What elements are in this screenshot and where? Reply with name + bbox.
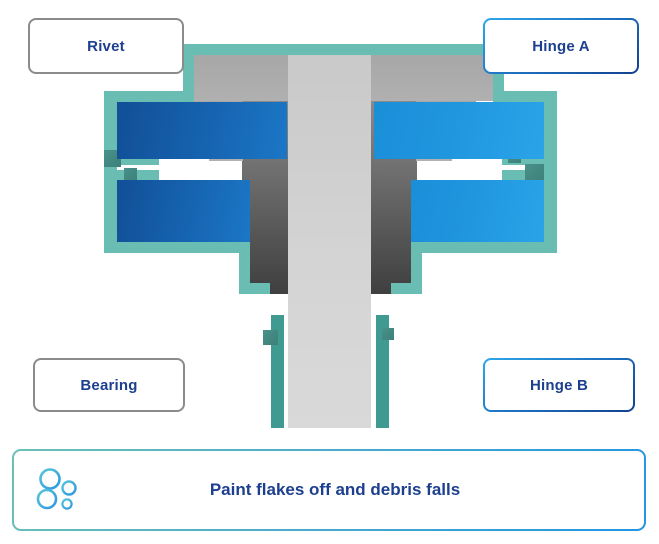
bearing-collar-rivet-right [382, 328, 394, 340]
frame-left-top-arm [104, 91, 194, 102]
callout-bearing[interactable]: Bearing [33, 358, 185, 412]
frame-left-bottom-arm [104, 242, 250, 253]
frame-left-step-foot [239, 283, 270, 294]
callout-rivet-label: Rivet [87, 38, 125, 55]
callout-rivet[interactable]: Rivet [28, 18, 184, 74]
callout-hinge-b[interactable]: Hinge B [483, 358, 635, 412]
frame-left-riser [183, 55, 194, 91]
diagram-canvas: Rivet Hinge A Bearing Hinge B [0, 0, 659, 544]
callout-hinge-a[interactable]: Hinge A [483, 18, 639, 74]
bearing-block-right-lower [411, 180, 544, 242]
callout-hinge-a-label: Hinge A [532, 38, 590, 55]
status-banner[interactable]: Paint flakes off and debris falls [12, 449, 646, 531]
bearing-block-right-upper [374, 102, 544, 159]
central-shaft [288, 55, 371, 428]
clearance-gap-left [159, 159, 209, 180]
frame-right-bottom-arm [411, 242, 557, 253]
bearing-collar-rivet-left [263, 330, 278, 345]
clearance-gap-right [452, 159, 502, 180]
bearing-block-left-upper [117, 102, 287, 159]
frame-right-step-foot [391, 283, 422, 294]
status-banner-text: Paint flakes off and debris falls [88, 480, 644, 500]
callout-bearing-label: Bearing [80, 377, 137, 394]
callout-hinge-b-label: Hinge B [530, 377, 588, 394]
bubbles-debris-icon [30, 461, 88, 519]
frame-top-cap [183, 44, 504, 55]
bearing-block-left-lower [117, 180, 250, 242]
